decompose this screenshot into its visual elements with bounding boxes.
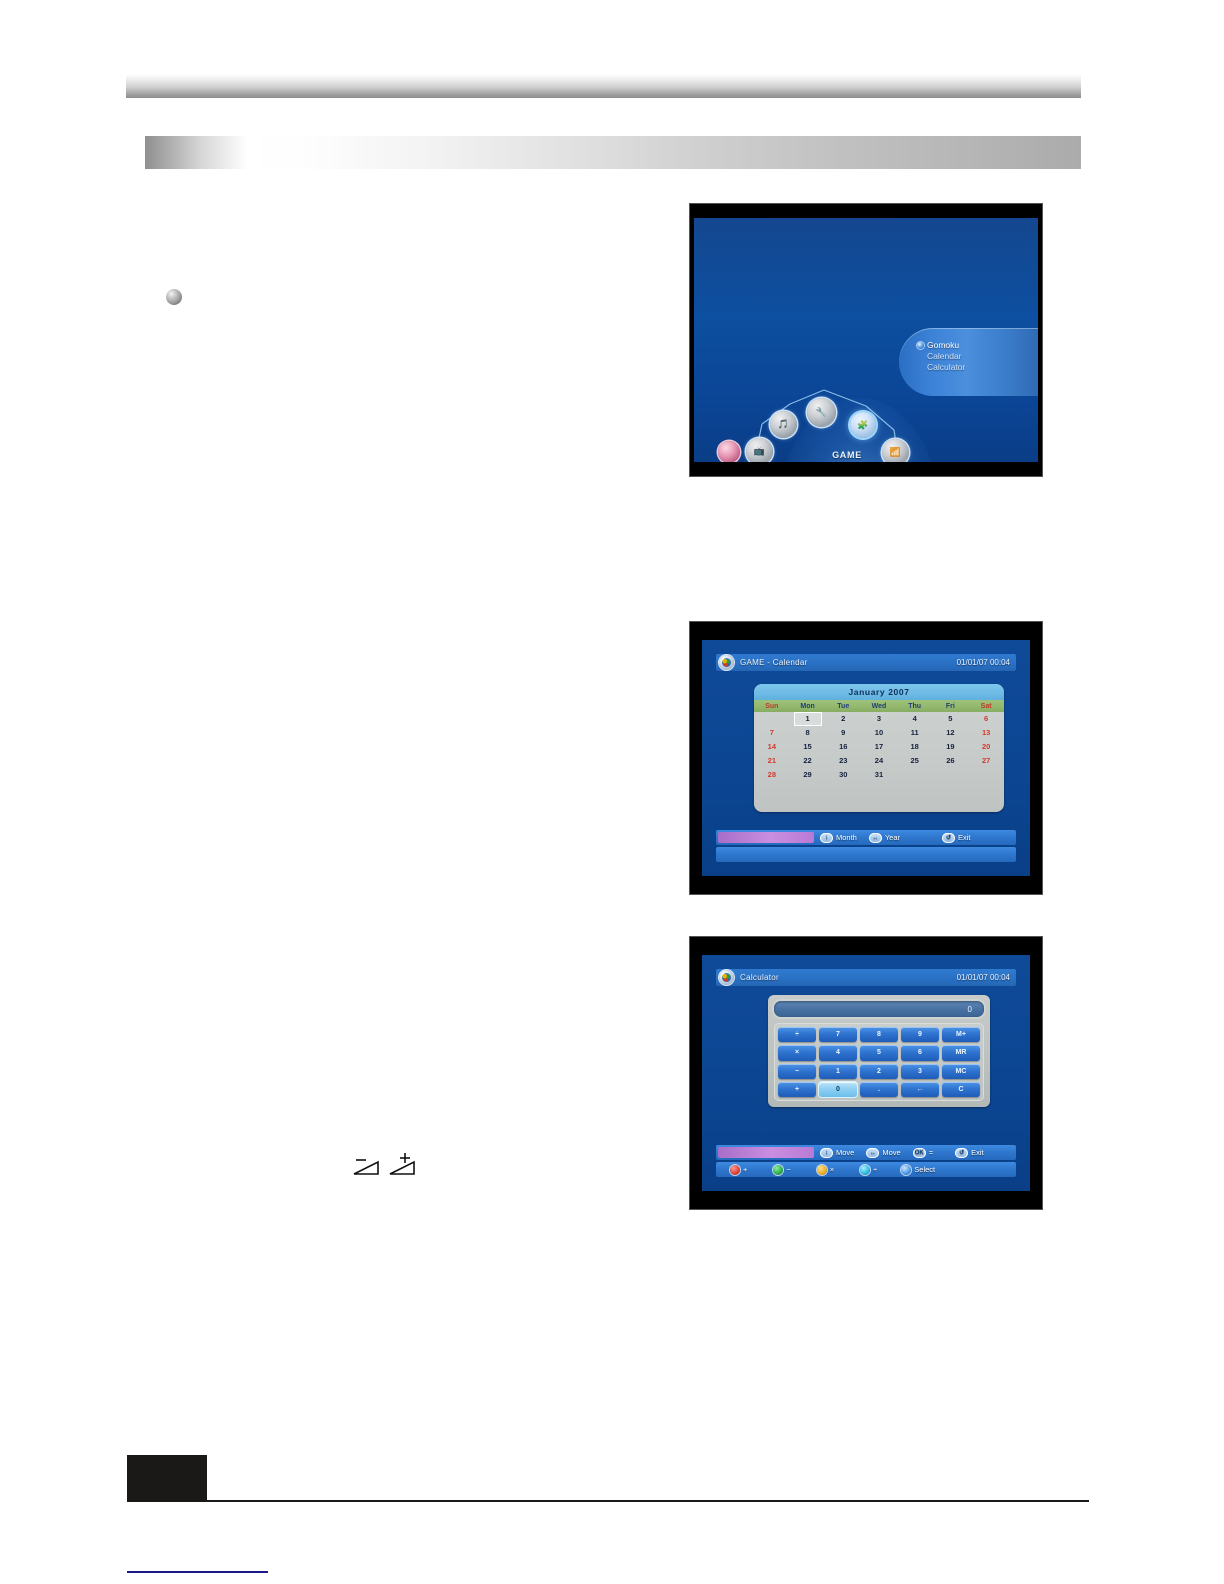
arc-node-music[interactable]: 🎵 (770, 411, 797, 438)
calendar-week-row: 28 29 30 31 (754, 768, 1004, 782)
hint-move-vertical-label: Move (836, 1148, 854, 1157)
calendar-hint-bar: ↕ Month ↔ Year ↺ Exit (716, 830, 1016, 845)
calculator-body: 0 ÷ 7 8 9 M+ × 4 5 6 MR − 1 2 3 MC (768, 995, 990, 1107)
exit-arrow-icon: ↺ (942, 833, 955, 843)
day-cell[interactable] (968, 768, 1004, 782)
weekday-wed: Wed (861, 700, 897, 712)
game-icon: 🧩 (857, 421, 868, 430)
day-cell[interactable]: 6 (968, 712, 1004, 726)
red-button-icon (730, 1165, 740, 1175)
calendar-hint-bar-secondary (716, 847, 1016, 862)
hint-exit[interactable]: ↺ Exit (942, 833, 971, 843)
hint-move-vertical[interactable]: ↕ Move (820, 1148, 854, 1158)
day-cell[interactable]: 13 (968, 726, 1004, 740)
yellow-button-icon (817, 1165, 827, 1175)
weekday-mon: Mon (790, 700, 826, 712)
hint-color-cyan-divide[interactable]: ÷ (860, 1165, 877, 1175)
calendar-month-title: January 2007 (754, 684, 1004, 700)
calendar-title-bar: GAME - Calendar 01/01/07 00:04 (716, 654, 1016, 671)
menu-category-label: GAME (812, 450, 882, 460)
hint-color-green-minus[interactable]: − (773, 1165, 790, 1175)
bottom-accent-rule (127, 1571, 268, 1573)
key-multiply[interactable]: × (778, 1045, 816, 1060)
submenu-selection-bullet-icon (917, 342, 924, 349)
key-minus[interactable]: − (778, 1064, 816, 1079)
purple-progress-segment (718, 832, 814, 843)
hint-exit-label: Exit (971, 1148, 984, 1157)
header-gradient-bar (126, 74, 1081, 98)
day-cell-selected[interactable]: 1 (790, 712, 826, 726)
day-cell[interactable] (754, 712, 790, 726)
day-cell[interactable]: 9 (825, 726, 861, 740)
key-8[interactable]: 8 (860, 1027, 898, 1042)
key-7[interactable]: 7 (819, 1027, 857, 1042)
calendar-header-row: Sun Mon Tue Wed Thu Fri Sat (754, 700, 1004, 712)
day-cell[interactable]: 24 (861, 754, 897, 768)
hint-cyan-label: ÷ (873, 1165, 877, 1174)
manual-page: 📺 🎵 🔧 🧩 📶 GAME Gomoku Calendar Calcul (0, 0, 1224, 1584)
arc-node-game[interactable]: 🧩 (850, 412, 876, 438)
key-mem-add[interactable]: M+ (942, 1027, 980, 1042)
key-5[interactable]: 5 (860, 1045, 898, 1060)
weekday-fri: Fri (933, 700, 969, 712)
key-3[interactable]: 3 (901, 1064, 939, 1079)
day-cell[interactable]: 23 (825, 754, 861, 768)
key-divide[interactable]: ÷ (778, 1027, 816, 1042)
day-cell[interactable] (897, 768, 933, 782)
arc-node-setup[interactable]: 📶 (882, 439, 909, 462)
day-cell[interactable]: 3 (861, 712, 897, 726)
arc-node-tools[interactable]: 🔧 (807, 398, 836, 427)
day-cell[interactable]: 10 (861, 726, 897, 740)
globe-icon (719, 655, 734, 670)
day-cell[interactable]: 19 (933, 740, 969, 754)
calendar-card: January 2007 Sun Mon Tue Wed Thu Fri Sat (754, 684, 1004, 812)
day-cell[interactable]: 5 (933, 712, 969, 726)
day-cell[interactable]: 18 (897, 740, 933, 754)
key-clear[interactable]: C (942, 1082, 980, 1097)
calculator-title-text: Calculator (740, 973, 779, 982)
day-cell[interactable]: 21 (754, 754, 790, 768)
updown-arrow-icon: ↕ (820, 1148, 833, 1158)
key-plus[interactable]: + (778, 1082, 816, 1097)
calculator-clock: 01/01/07 00:04 (957, 973, 1010, 982)
day-cell[interactable]: 25 (897, 754, 933, 768)
key-4[interactable]: 4 (819, 1045, 857, 1060)
calculator-title-bar: Calculator 01/01/07 00:04 (716, 969, 1016, 986)
hint-select[interactable]: Select (901, 1165, 935, 1175)
hint-year[interactable]: ↔ Year (869, 833, 900, 843)
cyan-button-icon (860, 1165, 870, 1175)
day-cell[interactable]: 11 (897, 726, 933, 740)
volume-down-icon (354, 1160, 378, 1174)
globe-icon (719, 970, 734, 985)
key-mem-recall[interactable]: MR (942, 1045, 980, 1060)
day-cell[interactable]: 31 (861, 768, 897, 782)
setup-icon: 📶 (890, 448, 901, 457)
submenu-item-calculator[interactable]: Calculator (927, 362, 1038, 373)
hint-move-horizontal[interactable]: ↔ Move (866, 1148, 900, 1158)
day-cell[interactable]: 20 (968, 740, 1004, 754)
hint-red-label: + (743, 1165, 747, 1174)
calculator-footer: ↕ Move ↔ Move OK = ↺ Exit (716, 1145, 1016, 1179)
calculator-keypad: ÷ 7 8 9 M+ × 4 5 6 MR − 1 2 3 MC + 0 (774, 1023, 984, 1101)
day-cell[interactable]: 17 (861, 740, 897, 754)
page-number-block (127, 1455, 207, 1501)
hint-month[interactable]: ↕ Month (820, 833, 857, 843)
select-button-icon (901, 1165, 911, 1175)
day-cell[interactable]: 28 (754, 768, 790, 782)
key-6[interactable]: 6 (901, 1045, 939, 1060)
weekday-thu: Thu (897, 700, 933, 712)
calendar-week-row: 1 2 3 4 5 6 (754, 712, 1004, 726)
day-cell[interactable]: 8 (790, 726, 826, 740)
key-decimal[interactable]: . (860, 1082, 898, 1097)
day-cell[interactable]: 29 (790, 768, 826, 782)
music-icon: 🎵 (778, 420, 789, 429)
figure-game-menu: 📺 🎵 🔧 🧩 📶 GAME Gomoku Calendar Calcul (690, 204, 1042, 476)
exit-arrow-icon: ↺ (955, 1148, 968, 1158)
arc-node-tv[interactable]: 📺 (746, 438, 773, 462)
node-exit-icon[interactable] (718, 441, 740, 462)
calculator-display: 0 (774, 1001, 984, 1017)
day-cell[interactable]: 26 (933, 754, 969, 768)
day-cell[interactable] (933, 768, 969, 782)
hint-yellow-label: × (830, 1165, 834, 1174)
day-cell[interactable]: 12 (933, 726, 969, 740)
hint-color-red-plus[interactable]: + (730, 1165, 747, 1175)
hint-green-label: − (786, 1165, 790, 1174)
submenu-item-gomoku[interactable]: Gomoku (927, 340, 1038, 351)
day-cell[interactable]: 22 (790, 754, 826, 768)
hint-year-label: Year (885, 833, 900, 842)
hint-select-label: Select (914, 1165, 935, 1174)
day-cell[interactable]: 7 (754, 726, 790, 740)
ok-button-icon: OK (913, 1148, 926, 1158)
bullet-marker (166, 289, 182, 305)
calendar-footer: ↕ Month ↔ Year ↺ Exit (716, 830, 1016, 864)
osd-screen-calculator: Calculator 01/01/07 00:04 0 ÷ 7 8 9 M+ ×… (702, 955, 1030, 1191)
section-title-bar (145, 136, 1081, 169)
tv-icon: 📺 (754, 447, 765, 456)
key-backspace[interactable]: ← (901, 1082, 939, 1097)
day-cell[interactable]: 27 (968, 754, 1004, 768)
hint-color-yellow-multiply[interactable]: × (817, 1165, 834, 1175)
calendar-week-row: 7 8 9 10 11 12 13 (754, 726, 1004, 740)
hint-exit-label: Exit (958, 833, 971, 842)
key-9[interactable]: 9 (901, 1027, 939, 1042)
purple-progress-segment (718, 1147, 814, 1158)
volume-up-icon (390, 1153, 414, 1174)
calendar-week-row: 21 22 23 24 25 26 27 (754, 754, 1004, 768)
tools-icon: 🔧 (816, 408, 827, 417)
hint-equals[interactable]: OK = (913, 1148, 933, 1158)
hint-exit[interactable]: ↺ Exit (955, 1148, 984, 1158)
key-1[interactable]: 1 (819, 1064, 857, 1079)
osd-screen-calendar: GAME - Calendar 01/01/07 00:04 January 2… (702, 640, 1030, 876)
figure-calendar: GAME - Calendar 01/01/07 00:04 January 2… (690, 622, 1042, 894)
figure-calculator: Calculator 01/01/07 00:04 0 ÷ 7 8 9 M+ ×… (690, 937, 1042, 1209)
calendar-clock: 01/01/07 00:04 (957, 658, 1010, 667)
weekday-sun: Sun (754, 700, 790, 712)
osd-screen-game: 📺 🎵 🔧 🧩 📶 GAME Gomoku Calendar Calcul (694, 218, 1038, 462)
updown-arrow-icon: ↕ (820, 833, 833, 843)
key-2[interactable]: 2 (860, 1064, 898, 1079)
calendar-grid: Sun Mon Tue Wed Thu Fri Sat 1 (754, 700, 1004, 782)
day-cell[interactable]: 14 (754, 740, 790, 754)
day-cell[interactable]: 4 (897, 712, 933, 726)
day-cell[interactable]: 2 (825, 712, 861, 726)
calendar-week-row: 14 15 16 17 18 19 20 (754, 740, 1004, 754)
game-submenu-panel: Gomoku Calendar Calculator (899, 328, 1038, 396)
hint-move-horizontal-label: Move (882, 1148, 900, 1157)
key-0[interactable]: 0 (819, 1082, 857, 1097)
leftright-arrow-icon: ↔ (866, 1148, 879, 1158)
day-cell[interactable]: 16 (825, 740, 861, 754)
calculator-hint-bar-row2: + − × ÷ Sele (716, 1162, 1016, 1177)
day-cell[interactable]: 30 (825, 768, 861, 782)
calculator-hint-bar-row1: ↕ Move ↔ Move OK = ↺ Exit (716, 1145, 1016, 1160)
leftright-arrow-icon: ↔ (869, 833, 882, 843)
submenu-item-calendar[interactable]: Calendar (927, 351, 1038, 362)
footer-rule (127, 1500, 1089, 1502)
key-mem-clear[interactable]: MC (942, 1064, 980, 1079)
hint-equals-label: = (929, 1148, 933, 1157)
day-cell[interactable]: 15 (790, 740, 826, 754)
volume-icon-group (348, 1152, 428, 1182)
calendar-title-text: GAME - Calendar (740, 658, 808, 667)
weekday-tue: Tue (825, 700, 861, 712)
weekday-sat: Sat (968, 700, 1004, 712)
green-button-icon (773, 1165, 783, 1175)
hint-month-label: Month (836, 833, 857, 842)
